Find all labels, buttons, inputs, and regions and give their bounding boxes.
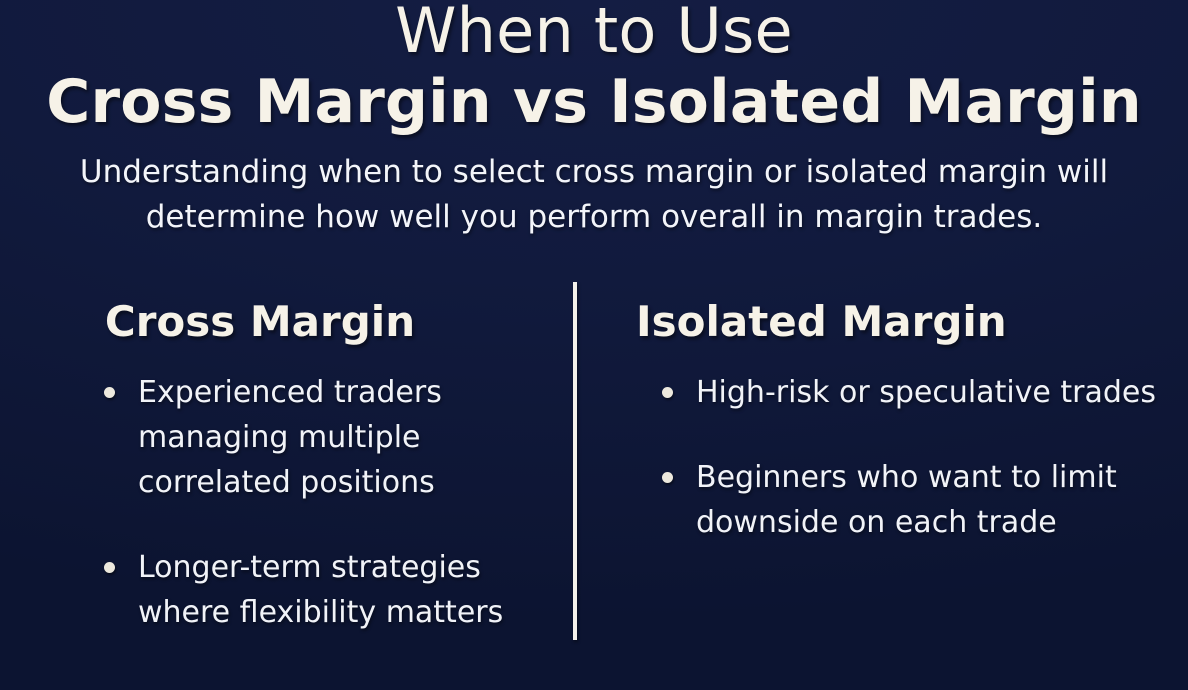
title-line-2: Cross Margin vs Isolated Margin [0, 66, 1188, 138]
list-item: Experienced traders managing multiple co… [78, 370, 550, 505]
title-line-1: When to Use [0, 0, 1188, 66]
column-heading-cross-margin: Cross Margin [30, 296, 550, 348]
list-item: High-risk or speculative trades [636, 370, 1158, 415]
list-item: Longer-term strategies where flexibility… [78, 545, 550, 635]
column-divider [573, 282, 577, 640]
bullet-text: Experienced traders managing multiple co… [138, 370, 550, 505]
slide-canvas: When to Use Cross Margin vs Isolated Mar… [0, 0, 1188, 690]
bullet-text: High-risk or speculative trades [696, 370, 1158, 415]
bullet-text: Longer-term strategies where flexibility… [138, 545, 550, 635]
bullet-dot-icon [104, 562, 115, 573]
bullet-dot-icon [662, 472, 673, 483]
subtitle: Understanding when to select cross margi… [64, 150, 1124, 240]
list-item: Beginners who want to limit downside on … [636, 455, 1158, 545]
bullet-list-cross-margin: Experienced traders managing multiple co… [30, 370, 550, 635]
bullet-dot-icon [104, 387, 115, 398]
comparison-columns: Cross Margin Experienced traders managin… [0, 282, 1188, 682]
column-cross-margin: Cross Margin Experienced traders managin… [30, 282, 550, 635]
slide-header: When to Use Cross Margin vs Isolated Mar… [0, 0, 1188, 240]
bullet-text: Beginners who want to limit downside on … [696, 455, 1158, 545]
column-isolated-margin: Isolated Margin High-risk or speculative… [618, 282, 1158, 545]
column-heading-isolated-margin: Isolated Margin [618, 296, 1158, 348]
bullet-dot-icon [662, 387, 673, 398]
bullet-list-isolated-margin: High-risk or speculative trades Beginner… [618, 370, 1158, 545]
